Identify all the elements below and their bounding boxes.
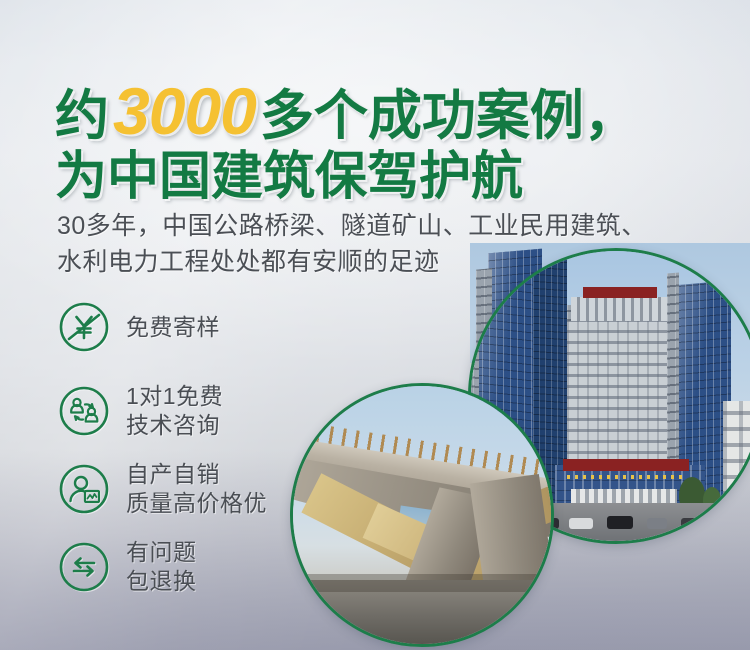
subtitle-line-1: 30多年，中国公路桥梁、隧道矿山、工业民用建筑、 (57, 208, 717, 244)
feature-label: 自产自销 质量高价格优 (126, 460, 267, 517)
feature-line: 免费寄样 (126, 313, 220, 342)
self-production-person-chart-icon (58, 463, 110, 515)
feature-item-self-production: 自产自销 质量高价格优 (58, 458, 267, 520)
feature-line: 质量高价格优 (126, 489, 267, 518)
subtitle-line-2: 水利电力工程处处都有安顺的足迹 (57, 244, 717, 280)
headline: 约3000多个成功案例， 为中国建筑保驾护航 (55, 78, 695, 204)
headline-suffix: 多个成功案例， (260, 86, 638, 146)
headline-number: 3000 (109, 74, 260, 148)
headline-prefix: 约 (55, 86, 109, 146)
bridge-photo (290, 383, 554, 647)
feature-line: 有问题 (126, 538, 197, 567)
feature-line: 自产自销 (126, 460, 267, 489)
feature-line: 技术咨询 (126, 411, 223, 440)
feature-list: 免费寄样 1对1免费 技术咨询 (58, 296, 267, 616)
return-exchange-arrows-icon (58, 541, 110, 593)
feature-label: 有问题 包退换 (126, 538, 197, 595)
feature-label: 免费寄样 (126, 313, 220, 342)
headline-line-2: 为中国建筑保驾护航 (55, 151, 695, 204)
one-on-one-consult-people-icon (58, 385, 110, 437)
feature-line: 1对1免费 (126, 382, 223, 411)
feature-item-return-exchange: 有问题 包退换 (58, 536, 267, 598)
feature-item-free-sample: 免费寄样 (58, 296, 267, 358)
headline-line-1: 约3000多个成功案例， (55, 78, 695, 145)
feature-line: 包退换 (126, 567, 197, 596)
feature-item-consulting: 1对1免费 技术咨询 (58, 380, 267, 442)
free-sample-yen-slash-icon (58, 301, 110, 353)
subtitle: 30多年，中国公路桥梁、隧道矿山、工业民用建筑、 水利电力工程处处都有安顺的足迹 (57, 208, 717, 281)
feature-label: 1对1免费 技术咨询 (126, 382, 223, 439)
promo-banner: 约3000多个成功案例， 为中国建筑保驾护航 30多年，中国公路桥梁、隧道矿山、… (0, 0, 750, 650)
